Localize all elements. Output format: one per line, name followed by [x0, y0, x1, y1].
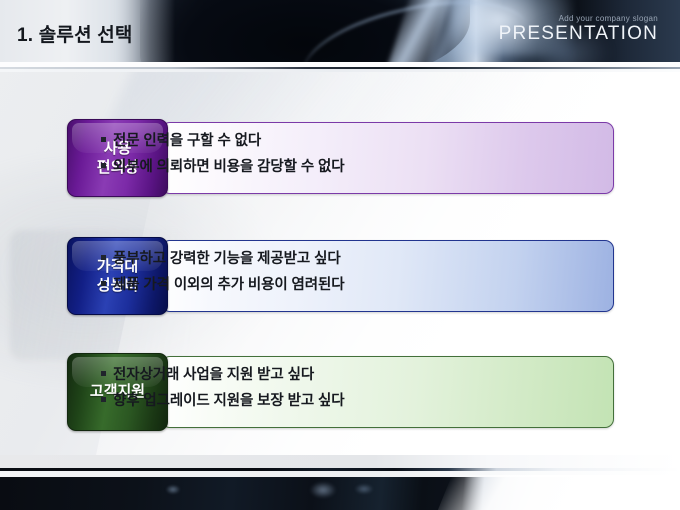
header-separator-under — [0, 69, 680, 72]
bullet-text: 외부에 의뢰하면 비용을 감당할 수 없다 — [113, 156, 344, 178]
square-bullet-icon — [101, 371, 106, 376]
square-bullet-icon — [101, 163, 106, 168]
list-item: 전자상거래 사업을 지원 받고 싶다 — [101, 364, 344, 386]
square-bullet-icon — [101, 281, 106, 286]
bullet-text: 향후 업그레이드 지원을 보장 받고 싶다 — [113, 390, 344, 412]
content-row-customer-support: 고객지원 전자상거래 사업을 지원 받고 싶다 향후 업그레이드 지원을 보장 … — [67, 353, 614, 431]
square-bullet-icon — [101, 397, 106, 402]
square-bullet-icon — [101, 255, 106, 260]
brand-title: PRESENTATION — [499, 23, 658, 45]
footer-highlight-1 — [166, 485, 180, 494]
footer-top-line — [0, 455, 680, 468]
bullet-text: 풍부하고 강력한 기능을 제공받고 싶다 — [113, 248, 341, 270]
footer-band — [0, 455, 680, 510]
bullet-list-customer-support: 전자상거래 사업을 지원 받고 싶다 향후 업그레이드 지원을 보장 받고 싶다 — [101, 364, 344, 417]
bullet-text: 전자상거래 사업을 지원 받고 싶다 — [113, 364, 314, 386]
list-item: 전문 인력을 구할 수 없다 — [101, 130, 344, 152]
bullet-list-usability: 전문 인력을 구할 수 없다 외부에 의뢰하면 비용을 감당할 수 없다 — [101, 130, 344, 183]
list-item: 향후 업그레이드 지원을 보장 받고 싶다 — [101, 390, 344, 412]
company-slogan: Add your company slogan — [559, 14, 658, 23]
presentation-slide: 1. 솔루션 선택 Add your company slogan PRESEN… — [0, 0, 680, 510]
bullet-text: 전문 인력을 구할 수 없다 — [113, 130, 261, 152]
bullet-list-price-performance: 풍부하고 강력한 기능을 제공받고 싶다 제품 가격 이외의 추가 비용이 염려… — [101, 248, 344, 301]
footer-highlight-3 — [355, 484, 373, 494]
footer-diagonal-white — [436, 475, 680, 510]
list-item: 풍부하고 강력한 기능을 제공받고 싶다 — [101, 248, 344, 270]
list-item: 제품 가격 이외의 추가 비용이 염려된다 — [101, 274, 344, 296]
page-title: 1. 솔루션 선택 — [17, 20, 133, 47]
content-row-usability: 사용 편의성 전문 인력을 구할 수 없다 외부에 의뢰하면 비용을 감당할 수… — [67, 119, 614, 197]
bullet-text: 제품 가격 이외의 추가 비용이 염려된다 — [113, 274, 344, 296]
list-item: 외부에 의뢰하면 비용을 감당할 수 없다 — [101, 156, 344, 178]
content-row-price-performance: 가격대 성능비 풍부하고 강력한 기능을 제공받고 싶다 제품 가격 이외의 추… — [67, 237, 614, 315]
square-bullet-icon — [101, 137, 106, 142]
footer-highlight-2 — [310, 482, 336, 498]
